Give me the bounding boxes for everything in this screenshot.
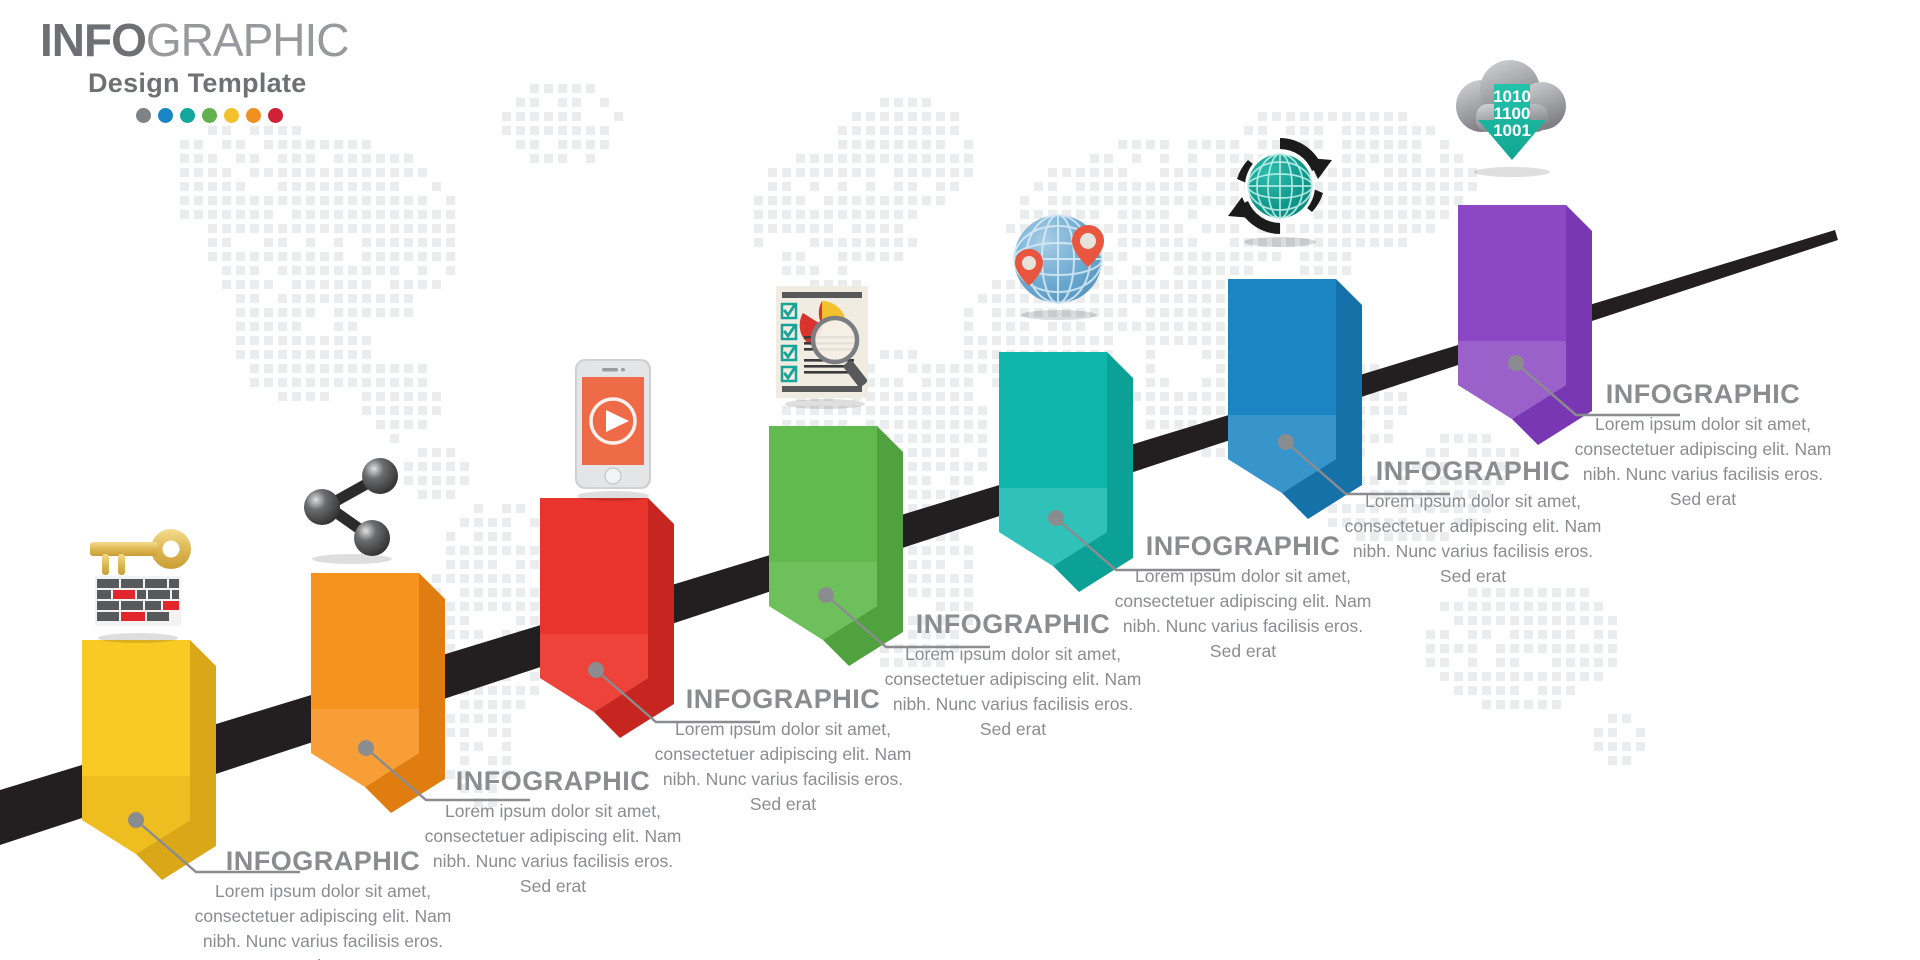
leader-dot-1	[128, 812, 144, 828]
leader-dot-3	[588, 662, 604, 678]
infographic-canvas: INFOGRAPHIC Design Template	[0, 0, 1920, 960]
leader-dot-6	[1278, 434, 1294, 450]
leader-dot-2	[358, 740, 374, 756]
leader-dot-7	[1508, 355, 1524, 371]
leader-dot-5	[1048, 510, 1064, 526]
leader-dot-4	[818, 587, 834, 603]
step-body: Lorem ipsum dolor sit amet, consectetuer…	[1568, 412, 1838, 512]
step-heading: INFOGRAPHIC	[1568, 378, 1838, 410]
step-text-7: INFOGRAPHIC Lorem ipsum dolor sit amet, …	[1568, 378, 1838, 512]
